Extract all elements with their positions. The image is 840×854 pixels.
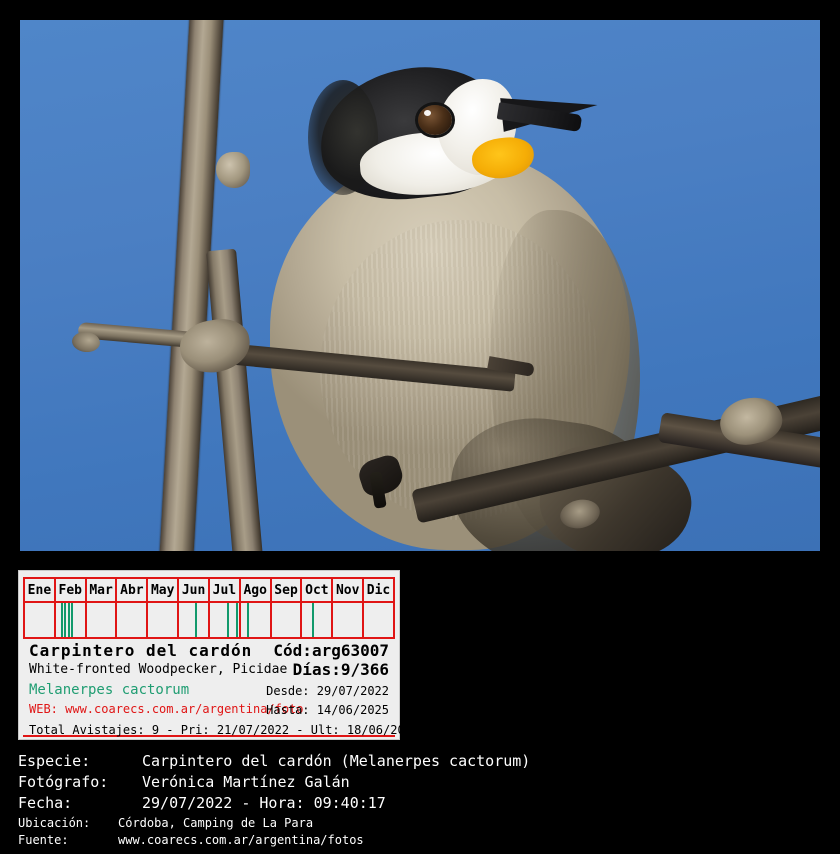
bar-month-feb: [56, 603, 87, 637]
card-text-block: Carpintero del cardón Cód:arg63007 White…: [23, 641, 395, 737]
bar-month-mar: [87, 603, 118, 637]
fuente-value[interactable]: www.coarecs.com.ar/argentina/fotos: [118, 833, 364, 847]
sighting-tick: [61, 603, 63, 637]
sighting-tick: [236, 603, 238, 637]
month-cell-sep: Sep: [272, 579, 303, 601]
sightings-chart: [23, 603, 395, 639]
bar-month-ene: [23, 603, 56, 637]
month-cell-dic: Dic: [364, 579, 395, 601]
sighting-tick: [312, 603, 314, 637]
month-cell-ene: Ene: [23, 579, 56, 601]
month-cell-jun: Jun: [179, 579, 210, 601]
info-panel: Especie:Carpintero del cardón (Melanerpe…: [0, 748, 840, 854]
month-header-row: EneFebMarAbrMayJunJulAgoSepOctNovDic: [23, 577, 395, 603]
bird-eye-glint: [424, 110, 431, 116]
sighting-tick: [195, 603, 197, 637]
sighting-tick: [71, 603, 73, 637]
web-link[interactable]: WEB: www.coarecs.com.ar/argentina/foto: [29, 702, 304, 716]
sighting-tick: [247, 603, 249, 637]
bird-eye: [418, 105, 452, 135]
bar-month-jul: [210, 603, 241, 637]
month-cell-abr: Abr: [117, 579, 148, 601]
hasta-date: Hasta: 14/06/2025: [266, 703, 389, 717]
total-sightings: Total Avistajes: 9 - Pri: 21/07/2022 - U…: [29, 723, 419, 737]
especie-value: Carpintero del cardón (Melanerpes cactor…: [142, 752, 530, 770]
month-cell-oct: Oct: [302, 579, 333, 601]
bar-month-oct: [302, 603, 333, 637]
fecha-value: 29/07/2022 - Hora: 09:40:17: [142, 794, 386, 812]
fotografo-label: Fotógrafo:: [18, 773, 142, 791]
month-cell-ago: Ago: [241, 579, 272, 601]
common-name: Carpintero del cardón: [29, 641, 252, 660]
especie-label: Especie:: [18, 752, 142, 770]
bar-month-may: [148, 603, 179, 637]
scientific-name: Melanerpes cactorum: [29, 682, 189, 698]
english-name: White-fronted Woodpecker, Picidae: [29, 662, 287, 677]
fotografo-row: Fotógrafo:Verónica Martínez Galán: [18, 773, 350, 791]
bar-month-nov: [333, 603, 364, 637]
month-cell-mar: Mar: [87, 579, 118, 601]
bar-month-abr: [117, 603, 148, 637]
month-cell-jul: Jul: [210, 579, 241, 601]
sightings-grid: [23, 603, 395, 637]
ubicacion-label: Ubicación:: [18, 816, 118, 830]
days-counter: Días:9/366: [293, 660, 389, 679]
fecha-row: Fecha:29/07/2022 - Hora: 09:40:17: [18, 794, 386, 812]
sighting-tick: [64, 603, 66, 637]
ubicacion-row: Ubicación:Córdoba, Camping de La Para: [18, 816, 313, 830]
sighting-tick: [227, 603, 229, 637]
branch-knot-upper: [216, 152, 250, 188]
species-code: Cód:arg63007: [273, 641, 389, 660]
bird-photo: [20, 20, 820, 551]
fecha-label: Fecha:: [18, 794, 142, 812]
month-cell-nov: Nov: [333, 579, 364, 601]
fuente-label: Fuente:: [18, 833, 118, 847]
bar-month-sep: [272, 603, 303, 637]
sighting-tick: [68, 603, 70, 637]
month-cell-may: May: [148, 579, 179, 601]
fotografo-value: Verónica Martínez Galán: [142, 773, 350, 791]
bar-month-dic: [364, 603, 395, 637]
species-card: EneFebMarAbrMayJunJulAgoSepOctNovDic Car…: [18, 570, 400, 740]
bar-month-ago: [241, 603, 272, 637]
bar-month-jun: [179, 603, 210, 637]
especie-row: Especie:Carpintero del cardón (Melanerpe…: [18, 752, 530, 770]
month-cell-feb: Feb: [56, 579, 87, 601]
desde-date: Desde: 29/07/2022: [266, 684, 389, 698]
fuente-row: Fuente:www.coarecs.com.ar/argentina/foto…: [18, 833, 364, 847]
ubicacion-value: Córdoba, Camping de La Para: [118, 816, 313, 830]
